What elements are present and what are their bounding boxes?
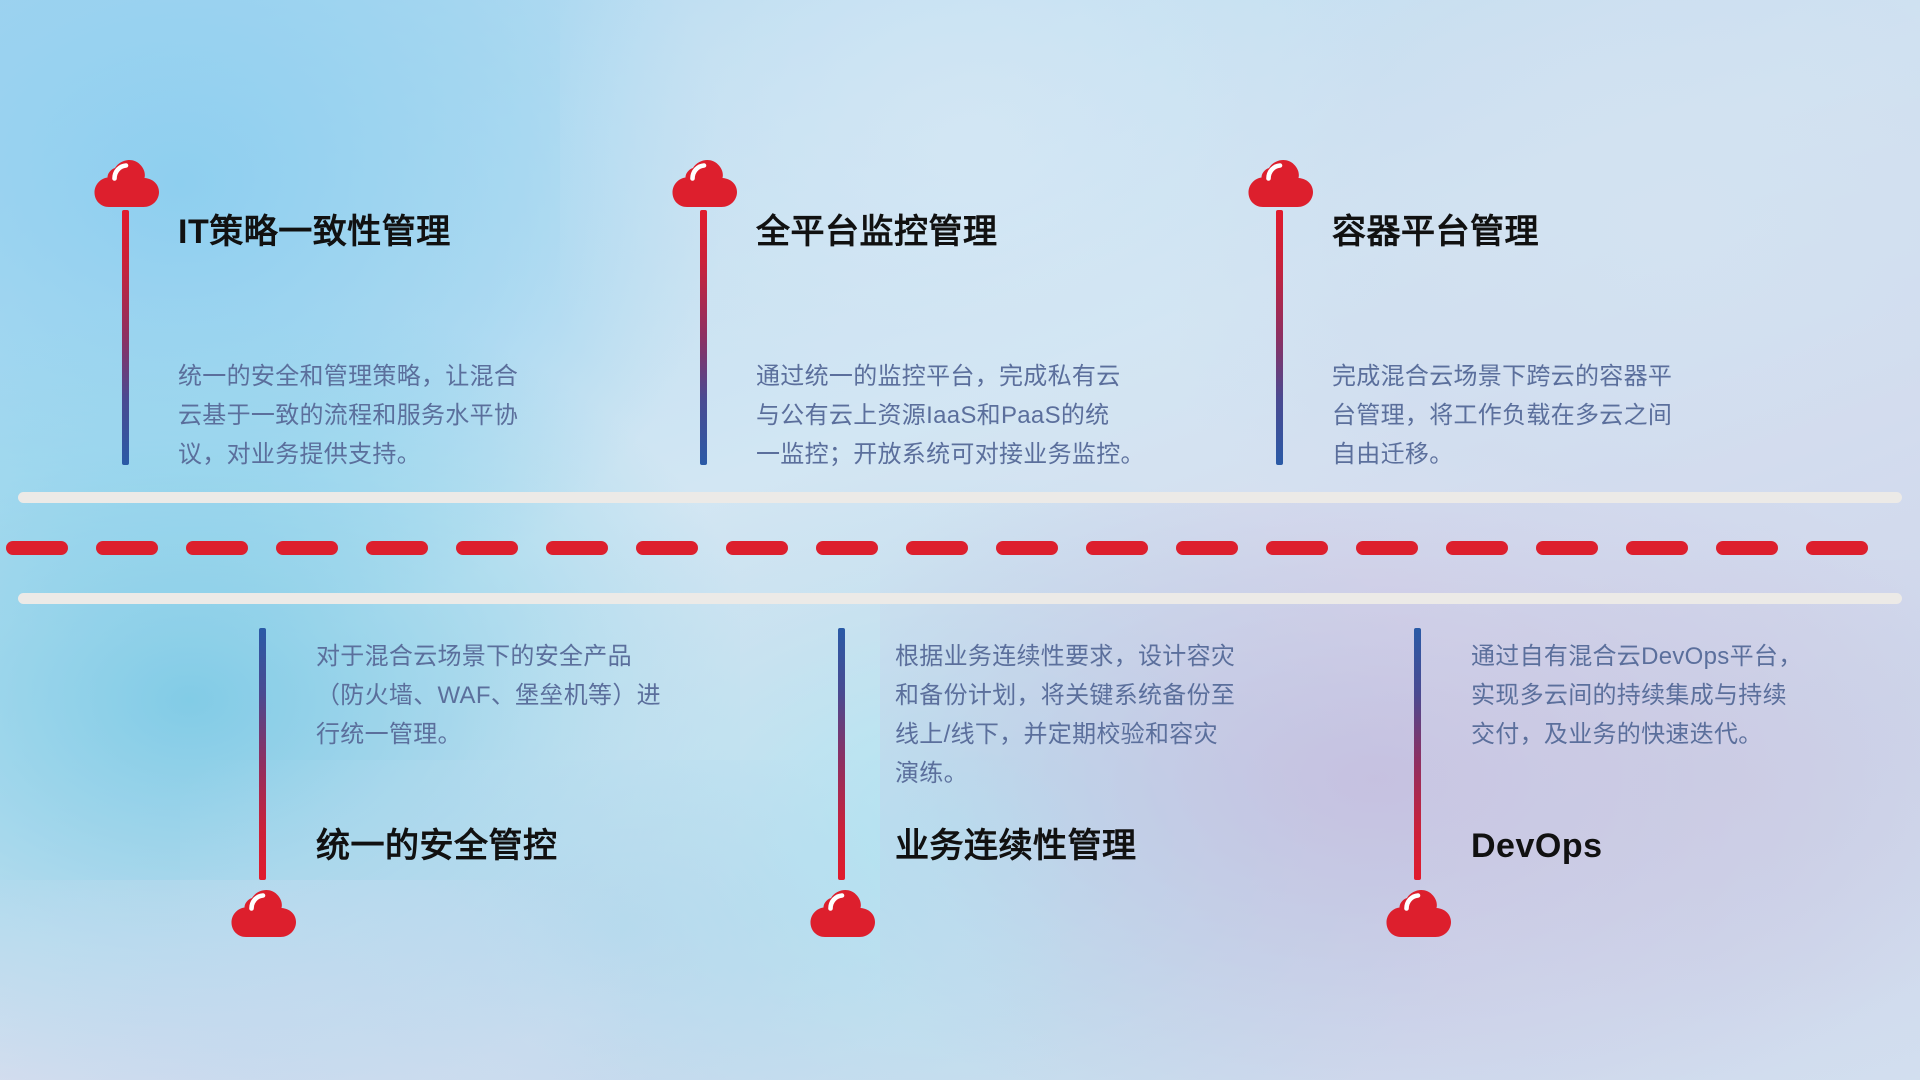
body-line: 台管理，将工作负载在多云之间 [1332, 397, 1672, 436]
body-line: 一监控；开放系统可对接业务监控。 [756, 436, 1145, 475]
card-body-text: 对于混合云场景下的安全产品 （防火墙、WAF、堡垒机等）进 行统一管理。 [316, 638, 661, 755]
background-blob-6 [560, 0, 1380, 420]
card-heading: 全平台监控管理 [756, 214, 998, 251]
card-body-text: 通过自有混合云DevOps平台， 实现多云间的持续集成与持续 交付，及业务的快速… [1471, 638, 1803, 755]
divider-dashed-line [0, 541, 1920, 555]
body-line: 自由迁移。 [1332, 436, 1672, 475]
body-line: 实现多云间的持续集成与持续 [1471, 677, 1803, 716]
body-line: 根据业务连续性要求，设计容灾 [895, 638, 1235, 677]
divider-dash [456, 541, 518, 555]
divider-dash [726, 541, 788, 555]
timeline-spine [259, 628, 266, 880]
divider-dash [816, 541, 878, 555]
body-line: 演练。 [895, 755, 1235, 794]
timeline-spine [700, 210, 707, 465]
timeline-spine [122, 210, 129, 465]
divider-dash [1086, 541, 1148, 555]
divider-dash [1176, 541, 1238, 555]
card-heading: IT策略一致性管理 [178, 214, 451, 251]
divider-dash [636, 541, 698, 555]
body-line: 议，对业务提供支持。 [178, 436, 518, 475]
card-body-text: 通过统一的监控平台，完成私有云 与公有云上资源IaaS和PaaS的统 一监控；开… [756, 358, 1145, 475]
card-body-text: 完成混合云场景下跨云的容器平 台管理，将工作负载在多云之间 自由迁移。 [1332, 358, 1672, 475]
body-line: 统一的安全和管理策略，让混合 [178, 358, 518, 397]
body-line: 通过统一的监控平台，完成私有云 [756, 358, 1145, 397]
divider-rail-bottom [18, 593, 1902, 604]
timeline-spine [1414, 628, 1421, 880]
cloud-icon [810, 888, 876, 940]
body-line: 线上/线下，并定期校验和容灾 [895, 716, 1235, 755]
cloud-icon [672, 158, 738, 210]
divider-dash [1626, 541, 1688, 555]
cloud-icon [1386, 888, 1452, 940]
divider-dash [546, 541, 608, 555]
body-line: 和备份计划，将关键系统备份至 [895, 677, 1235, 716]
divider-dash [6, 541, 68, 555]
divider-rail-top [18, 492, 1902, 503]
divider-dash [1536, 541, 1598, 555]
card-heading: DevOps [1471, 828, 1603, 865]
divider-dash [1446, 541, 1508, 555]
card-body-text: 统一的安全和管理策略，让混合 云基于一致的流程和服务水平协 议，对业务提供支持。 [178, 358, 518, 475]
divider-dash [276, 541, 338, 555]
divider-dash [1716, 541, 1778, 555]
divider-dash [366, 541, 428, 555]
cloud-icon [231, 888, 297, 940]
divider-dash [1806, 541, 1868, 555]
body-line: 完成混合云场景下跨云的容器平 [1332, 358, 1672, 397]
divider-dash [186, 541, 248, 555]
divider-dash [906, 541, 968, 555]
body-line: 通过自有混合云DevOps平台， [1471, 638, 1803, 677]
card-heading: 统一的安全管控 [316, 828, 558, 865]
body-line: （防火墙、WAF、堡垒机等）进 [316, 677, 661, 716]
card-heading: 业务连续性管理 [895, 828, 1137, 865]
body-line: 交付，及业务的快速迭代。 [1471, 716, 1803, 755]
card-body-text: 根据业务连续性要求，设计容灾 和备份计划，将关键系统备份至 线上/线下，并定期校… [895, 638, 1235, 794]
divider-dash [1356, 541, 1418, 555]
cloud-icon [1248, 158, 1314, 210]
body-line: 行统一管理。 [316, 716, 661, 755]
card-heading: 容器平台管理 [1332, 214, 1539, 251]
divider-dash [996, 541, 1058, 555]
body-line: 云基于一致的流程和服务水平协 [178, 397, 518, 436]
timeline-spine [1276, 210, 1283, 465]
cloud-icon [94, 158, 160, 210]
divider-dash [1266, 541, 1328, 555]
timeline-spine [838, 628, 845, 880]
divider-band [0, 480, 1920, 610]
background-blob-9 [0, 880, 620, 1080]
divider-dash [96, 541, 158, 555]
body-line: 对于混合云场景下的安全产品 [316, 638, 661, 677]
body-line: 与公有云上资源IaaS和PaaS的统 [756, 397, 1145, 436]
